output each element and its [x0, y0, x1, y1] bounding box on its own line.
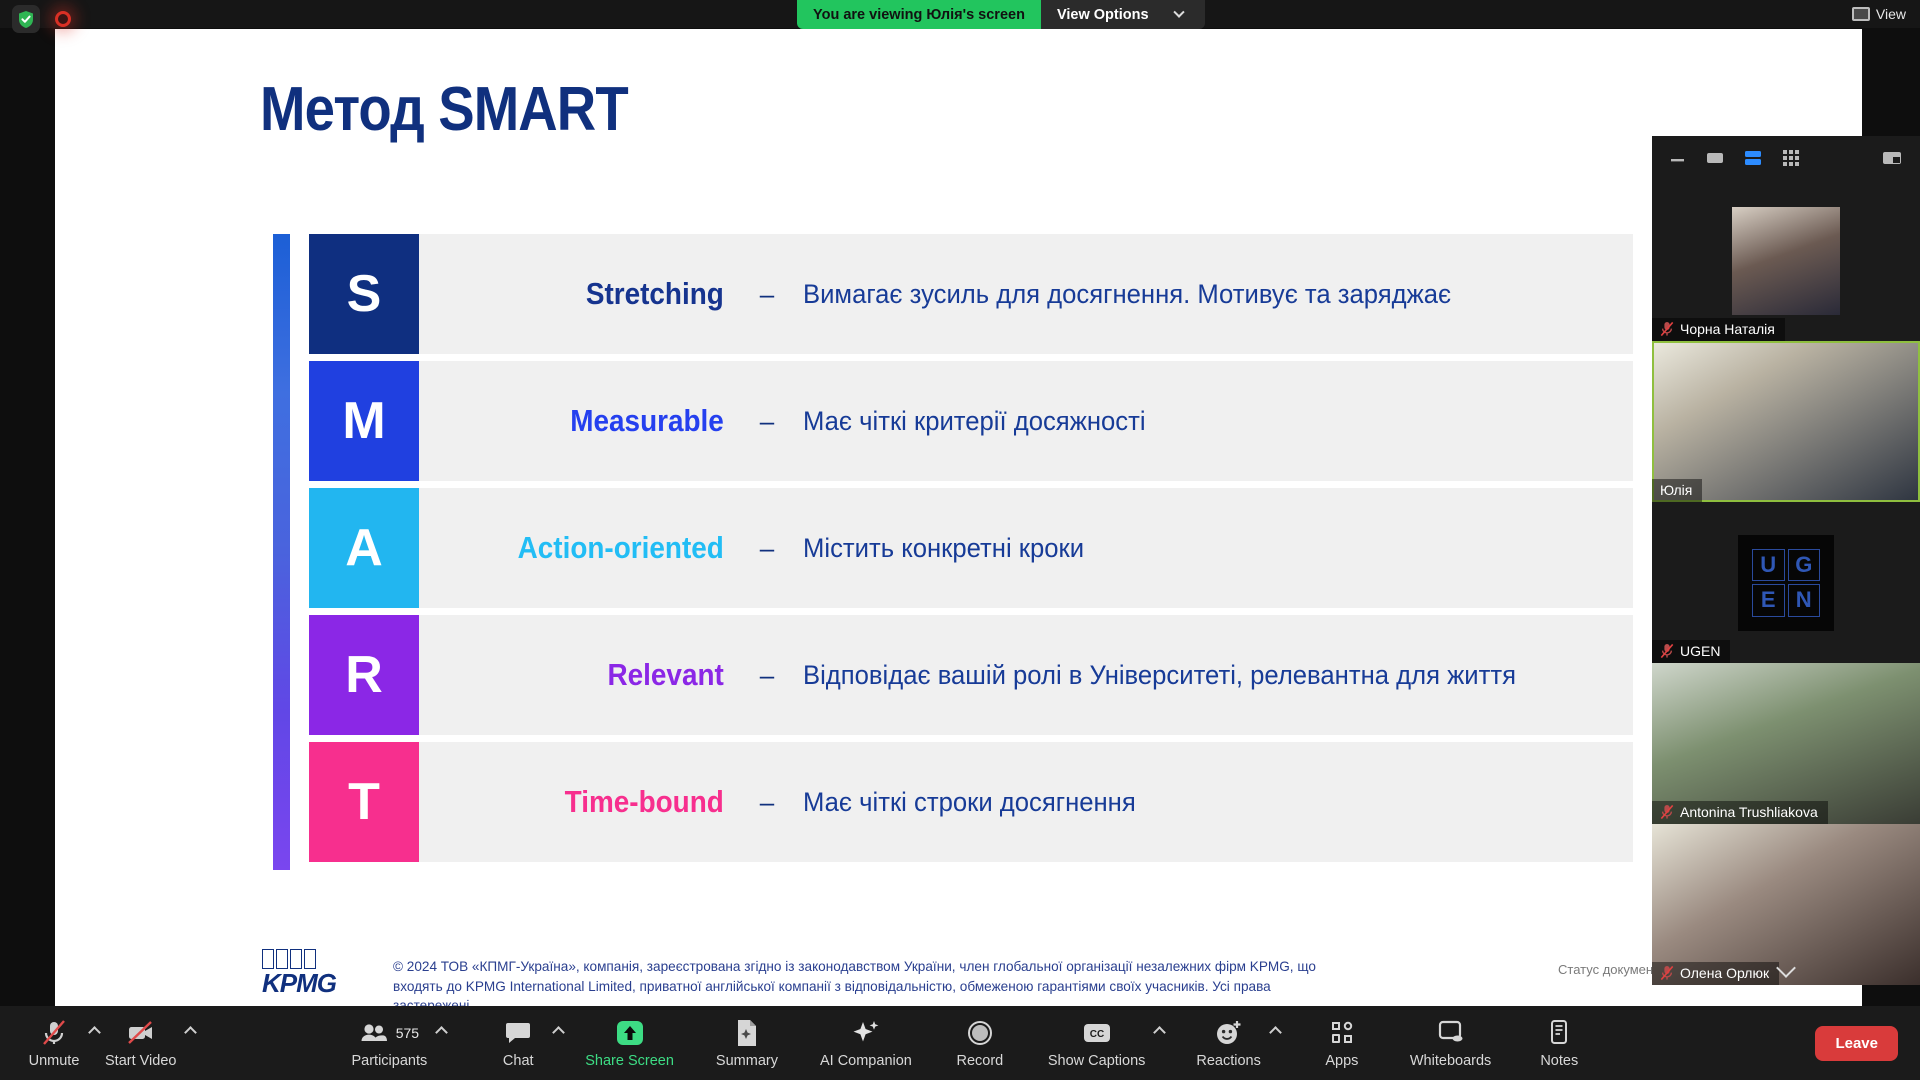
row-dash: – [731, 234, 803, 354]
smart-description: Має чіткі строки досягнення [803, 742, 1136, 862]
meeting-toolbar: UnmuteStart Video575ParticipantsChatShar… [0, 1006, 1920, 1080]
toolbar-start-video-button[interactable]: Start Video [99, 1006, 182, 1080]
gallery-strip-icon[interactable] [1744, 150, 1762, 166]
participant-name: Юлія [1660, 482, 1692, 498]
participants-icon: 575 [360, 1018, 419, 1048]
participant-tile[interactable]: Юлія [1652, 341, 1920, 502]
toolbar-show-captions-button[interactable]: CCShow Captions [1042, 1006, 1152, 1080]
toolbar-item-label: Chat [503, 1053, 534, 1069]
chat-icon [505, 1018, 531, 1048]
toolbar-apps-button[interactable]: Apps [1310, 1006, 1374, 1080]
toolbar-item-label: Apps [1325, 1053, 1358, 1069]
chevron-up-icon[interactable] [1154, 1026, 1167, 1039]
reactions-icon [1214, 1018, 1244, 1048]
participant-name-bar: Antonina Trushliakova [1652, 801, 1828, 824]
microphone-muted-icon [41, 1018, 67, 1048]
grid-view-icon[interactable] [1782, 149, 1800, 167]
toolbar-share-screen-button[interactable]: Share Screen [579, 1006, 680, 1080]
smart-rows: SStretching–Вимагає зусиль для досягненн… [273, 234, 1633, 869]
shared-slide: Метод SMART SStretching–Вимагає зусиль д… [55, 29, 1862, 1006]
leave-button[interactable]: Leave [1815, 1026, 1898, 1061]
smart-description: Вимагає зусиль для досягнення. Мотивує т… [803, 234, 1451, 354]
toolbar-notes-button[interactable]: Notes [1527, 1006, 1591, 1080]
participant-tiles: Чорна НаталіяЮліяUGENUGENAntonina Trushl… [1652, 180, 1920, 985]
smart-row: AAction-oriented–Містить конкретні кроки [273, 488, 1633, 615]
smart-description: Відповідає вашій ролі в Університеті, ре… [803, 615, 1516, 735]
smart-keyword: Measurable [450, 361, 731, 481]
view-button-label: View [1876, 6, 1906, 22]
notes-icon [1547, 1018, 1571, 1048]
participant-name: Олена Орлюк [1680, 965, 1769, 981]
row-dash: – [731, 742, 803, 862]
ugen-logo: UGEN [1738, 535, 1834, 631]
smart-keyword: Time-bound [450, 742, 731, 862]
participant-tile[interactable]: Чорна Наталія [1652, 180, 1920, 341]
participant-name: UGEN [1680, 643, 1720, 659]
participant-name-bar: UGEN [1652, 640, 1730, 663]
toolbar-participants-button[interactable]: 575Participants [345, 1006, 433, 1080]
toolbar-summary-button[interactable]: Summary [710, 1006, 784, 1080]
panel-layout-controls [1652, 136, 1920, 180]
toolbar-item-label: Start Video [105, 1053, 176, 1069]
smart-description: Має чіткі критерії досяжності [803, 361, 1146, 481]
participant-name-bar: Олена Орлюк [1652, 962, 1779, 985]
microphone-muted-icon [1660, 965, 1674, 981]
view-options-button[interactable]: View Options [1041, 0, 1205, 29]
chevron-down-icon [1173, 6, 1184, 17]
layout-view-icon [1852, 7, 1870, 21]
smart-row: TTime-bound–Має чіткі строки досягнення [273, 742, 1633, 869]
smart-letter-box: S [309, 234, 419, 354]
toolbar-chat-button[interactable]: Chat [486, 1006, 550, 1080]
row-dash: – [731, 488, 803, 608]
summary-icon [735, 1018, 759, 1048]
smart-row: RRelevant–Відповідає вашій ролі в Універ… [273, 615, 1633, 742]
toolbar-item-label: Unmute [29, 1053, 80, 1069]
screen-share-banner: You are viewing Юлія's screen View Optio… [797, 0, 1205, 29]
participants-count: 575 [396, 1025, 419, 1041]
page-title: Метод SMART [260, 74, 628, 145]
toolbar-item-label: Share Screen [585, 1053, 674, 1069]
participant-tile[interactable]: UGENUGEN [1652, 502, 1920, 663]
popout-panel-icon[interactable] [1882, 150, 1902, 166]
participant-video [1732, 207, 1840, 315]
toolbar-item-label: Record [956, 1053, 1003, 1069]
toolbar-item-label: Reactions [1196, 1053, 1260, 1069]
smart-letter-box: A [309, 488, 419, 608]
toolbar-whiteboards-button[interactable]: Whiteboards [1404, 1006, 1497, 1080]
document-status: Статус документа [1558, 962, 1666, 977]
row-dash: – [731, 615, 803, 735]
share-screen-icon [615, 1018, 645, 1048]
toolbar-reactions-button[interactable]: Reactions [1190, 1006, 1266, 1080]
toolbar-item-label: Whiteboards [1410, 1053, 1491, 1069]
microphone-muted-icon [1660, 804, 1674, 820]
chevron-up-icon[interactable] [185, 1026, 198, 1039]
toolbar-item-label: Summary [716, 1053, 778, 1069]
recording-indicator-icon[interactable] [55, 11, 71, 27]
smart-keyword: Relevant [450, 615, 731, 735]
toolbar-item-label: Show Captions [1048, 1053, 1146, 1069]
zoom-meeting-window: View You are viewing Юлія's screen View … [0, 0, 1920, 1080]
participant-video [1652, 663, 1920, 824]
participant-video [1652, 341, 1920, 502]
video-off-icon [126, 1018, 156, 1048]
view-button[interactable]: View [1852, 6, 1906, 22]
participant-name: Antonina Trushliakova [1680, 804, 1818, 820]
toolbar-record-button[interactable]: Record [948, 1006, 1012, 1080]
record-icon [966, 1018, 994, 1048]
view-options-label: View Options [1057, 7, 1149, 23]
toolbar-item-label: AI Companion [820, 1053, 912, 1069]
share-banner-text: You are viewing Юлія's screen [797, 0, 1041, 29]
microphone-muted-icon [1660, 643, 1674, 659]
row-dash: – [731, 361, 803, 481]
smart-description: Містить конкретні кроки [803, 488, 1084, 608]
participant-name-bar: Юлія [1652, 479, 1702, 502]
meeting-security-icon[interactable] [12, 5, 40, 33]
smart-letter-box: M [309, 361, 419, 481]
chevron-up-icon[interactable] [552, 1026, 565, 1039]
participants-video-panel: Чорна НаталіяЮліяUGENUGENAntonina Trushl… [1652, 136, 1920, 979]
smart-letter-box: T [309, 742, 419, 862]
smart-keyword: Action-oriented [450, 488, 731, 608]
microphone-muted-icon [1660, 321, 1674, 337]
toolbar-ai-companion-button[interactable]: AI Companion [814, 1006, 918, 1080]
ai-sparkle-icon [851, 1018, 881, 1048]
toolbar-item-label: Participants [351, 1053, 427, 1069]
chevron-up-icon[interactable] [1269, 1026, 1282, 1039]
minimize-icon[interactable] [1670, 153, 1686, 163]
toolbar-item-label: Notes [1540, 1053, 1578, 1069]
smart-row: SStretching–Вимагає зусиль для досягненн… [273, 234, 1633, 361]
speaker-view-icon[interactable] [1706, 151, 1724, 165]
participant-name-bar: Чорна Наталія [1652, 318, 1785, 341]
closed-captions-icon: CC [1082, 1018, 1112, 1048]
smart-keyword: Stretching [450, 234, 731, 354]
chevron-up-icon[interactable] [435, 1026, 448, 1039]
whiteboard-icon [1437, 1018, 1465, 1048]
participant-name: Чорна Наталія [1680, 321, 1775, 337]
copyright-text: © 2024 ТОВ «КПМГ-Україна», компанія, зар… [393, 957, 1343, 1006]
kpmg-wordmark: KPMG [262, 970, 334, 996]
kpmg-logo: KPMG [262, 949, 334, 996]
smart-row: MMeasurable–Має чіткі критерії досяжност… [273, 361, 1633, 488]
apps-icon [1329, 1018, 1355, 1048]
participant-tile[interactable]: Antonina Trushliakova [1652, 663, 1920, 824]
smart-letter-box: R [309, 615, 419, 735]
svg-text:CC: CC [1089, 1029, 1103, 1040]
toolbar-unmute-button[interactable]: Unmute [22, 1006, 86, 1080]
